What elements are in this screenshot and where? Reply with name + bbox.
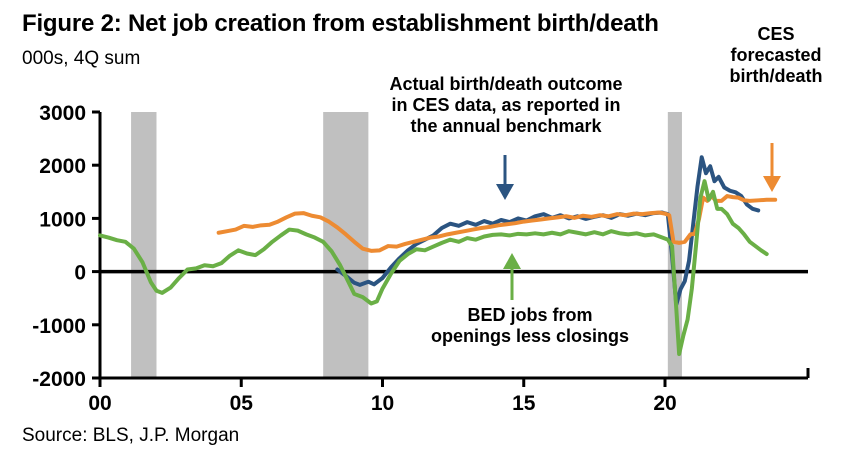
- source-note: Source: BLS, J.P. Morgan: [22, 425, 239, 447]
- y-axis-tick-label: 0: [74, 262, 86, 285]
- x-axis-tick-label: 20: [653, 392, 676, 415]
- x-axis-tick-label: 15: [512, 392, 536, 415]
- annotation-arrow-bed-head: [503, 253, 521, 269]
- x-axis-tick-label: 05: [230, 392, 254, 415]
- recession-2001: [131, 112, 156, 378]
- y-axis-tick-label: -2000: [32, 368, 86, 391]
- y-axis-tick-label: 1000: [39, 208, 86, 231]
- x-axis-tick-label: 10: [371, 392, 394, 415]
- recession-2008: [323, 112, 368, 378]
- annotation-arrow-actual-head: [496, 184, 514, 200]
- annotation-arrow-ces-forecast-head: [763, 176, 781, 192]
- y-axis-tick-label: 3000: [39, 102, 86, 125]
- annotation-actual-label: Actual birth/death outcome in CES data, …: [356, 74, 656, 138]
- figure-root: Figure 2: Net job creation from establis…: [0, 0, 852, 459]
- annotation-ces-forecast-label: CES forecasted birth/death: [706, 24, 846, 88]
- x-axis-tick-label: 00: [88, 392, 111, 415]
- y-axis-tick-label: 2000: [39, 155, 86, 178]
- annotation-bed-label: BED jobs from openings less closings: [400, 305, 660, 347]
- y-axis-tick-label: -1000: [32, 315, 86, 338]
